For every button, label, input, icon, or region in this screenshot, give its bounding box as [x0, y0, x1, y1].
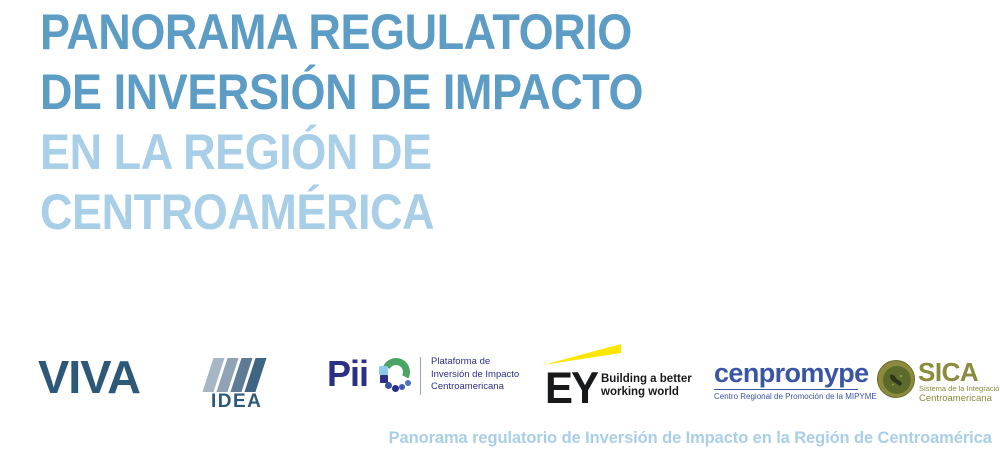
partner-logo-row: VIVA IDEA Pii: [0, 340, 1000, 420]
footer-text: Panorama regulatorio de Inversión de Imp…: [389, 428, 992, 448]
ey-tagline: Building a better working world: [601, 373, 692, 399]
c-ring-icon: [379, 358, 413, 392]
piic-tagline: Plataforma de Inversión de Impacto Centr…: [431, 356, 519, 394]
title-line-1: PANORAMA REGULATORIO: [40, 2, 724, 62]
viva-bars-icon: [206, 358, 268, 392]
report-cover-page: PANORAMA REGULATORIO DE INVERSIÓN DE IMP…: [0, 0, 1000, 462]
logo-cenpromype: cenpromype Centro Regional de Promoción …: [714, 360, 864, 400]
logo-ey: EY Building a better working world: [543, 344, 703, 404]
logo-sica: SICA Sistema de la Integración Centroame…: [877, 360, 997, 402]
page-title: PANORAMA REGULATORIO DE INVERSIÓN DE IMP…: [40, 2, 800, 242]
cenpromype-wordmark: cenpromype: [714, 360, 869, 387]
central-america-map-icon: [888, 371, 906, 389]
cenpromype-rule: [714, 389, 858, 390]
viva-idea-subword: IDEA: [211, 392, 262, 411]
ey-wordmark: EY: [545, 366, 597, 410]
logo-viva-idea: VIVA IDEA: [38, 354, 268, 412]
logo-piic: Pii Plataforma de Inversión de Impacto C…: [327, 358, 517, 408]
sica-tagline: Sistema de la Integración Centroamerican…: [919, 384, 1000, 403]
cenpromype-tagline: Centro Regional de Promoción de la MIPYM…: [714, 391, 877, 402]
title-line-3: EN LA REGIÓN DE: [40, 122, 724, 182]
title-line-2: DE INVERSIÓN DE IMPACTO: [40, 62, 724, 122]
sica-seal-icon: [877, 360, 915, 398]
sica-wordmark: SICA: [918, 359, 978, 385]
viva-wordmark: VIVA: [38, 354, 140, 400]
piic-divider: [420, 357, 421, 395]
page-footer: Panorama regulatorio de Inversión de Imp…: [0, 428, 1000, 448]
title-line-4: CENTROAMÉRICA: [40, 182, 724, 242]
piic-wordmark: Pii: [327, 356, 368, 392]
